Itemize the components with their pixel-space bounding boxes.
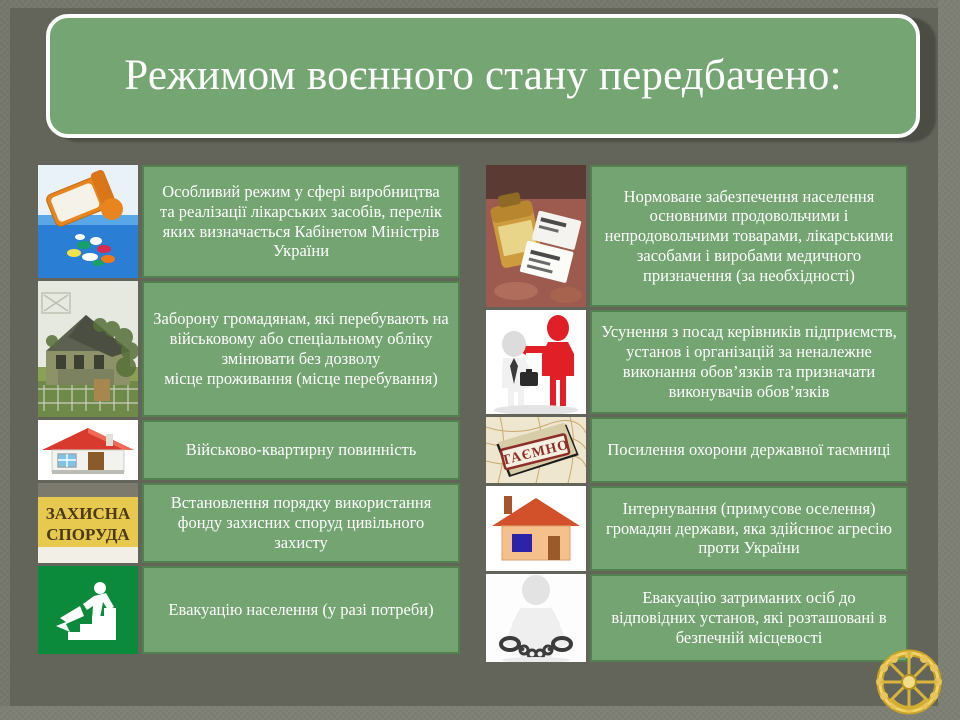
list-item: Евакуацію затриманих осіб до відповідних…: [486, 574, 908, 662]
emergency-exit-stairs-sign: [38, 566, 138, 654]
frame-right-band: [938, 0, 960, 720]
handcuffed-figure: [486, 574, 586, 662]
handcuffed-person-icon: [486, 574, 586, 662]
list-item-text: Евакуацію затриманих осіб до відповідних…: [590, 574, 908, 662]
slide-title-box: Режимом воєнного стану передбачено:: [46, 14, 920, 138]
old-house-photo: [38, 281, 138, 417]
frame-bottom-band: [0, 706, 960, 720]
emergency-exit-icon: [38, 566, 138, 654]
boss-pointing-figures: [486, 310, 586, 414]
list-item: Нормоване забезпечення населення основни…: [486, 165, 908, 307]
list-item: Евакуацію населення (у разі потреби): [38, 566, 460, 654]
house-orange-icon: [486, 486, 586, 571]
list-item-text: Евакуацію населення (у разі потреби): [142, 566, 460, 654]
secret-stamp-map: ТАЄМНО: [486, 417, 586, 483]
sign-line-1: ЗАХИСНА: [46, 504, 131, 523]
list-item-text: Встановлення порядку використання фонду …: [142, 483, 460, 563]
list-item-text: Військово-квартирну повинність: [142, 420, 460, 480]
left-column: Особливий режим у сфері виробництва та р…: [38, 165, 460, 657]
pointing-boss-icon: [486, 310, 586, 414]
red-roof-house-icon: [38, 420, 138, 480]
list-item-text: Нормоване забезпечення населення основни…: [590, 165, 908, 307]
pill-bottle-photo: [38, 165, 138, 278]
house-icon: [38, 420, 138, 480]
list-item: Особливий режим у сфері виробництва та р…: [38, 165, 460, 278]
right-column: Нормоване забезпечення населення основни…: [486, 165, 908, 665]
frame-left-band: [0, 0, 10, 720]
page-title: Режимом воєнного стану передбачено:: [106, 53, 859, 99]
frame-top-band: [0, 0, 960, 8]
list-item-text: Усунення з посад керівників підприємств,…: [590, 310, 908, 414]
list-item-text: Інтернування (примусове оселення) громад…: [590, 486, 908, 571]
list-item: Військово-квартирну повинність: [38, 420, 460, 480]
gold-star-emblem: [866, 644, 952, 716]
protective-structure-sign: ЗАХИСНА СПОРУДА: [38, 483, 138, 563]
list-item: ТАЄМНО Посилення охорони державної таємн…: [486, 417, 908, 483]
sign-line-2: СПОРУДА: [46, 525, 130, 544]
list-item: Усунення з посад керівників підприємств,…: [486, 310, 908, 414]
orange-house-icon: [486, 486, 586, 571]
secret-stamp-icon: ТАЄМНО: [486, 417, 586, 483]
list-item: ЗАХИСНА СПОРУДА Встановлення порядку вик…: [38, 483, 460, 563]
old-house-icon: [38, 281, 138, 417]
slide: Режимом воєнного стану передбачено:: [0, 0, 960, 720]
list-item-text: Заборону громадянам, які перебувають на …: [142, 281, 460, 417]
list-item-text: Посилення охорони державної таємниці: [590, 417, 908, 483]
protective-structure-sign-icon: ЗАХИСНА СПОРУДА: [38, 483, 138, 563]
list-item-text: Особливий режим у сфері виробництва та р…: [142, 165, 460, 278]
pill-bottle-icon: [38, 165, 138, 278]
list-item: Інтернування (примусове оселення) громад…: [486, 486, 908, 571]
list-item: Заборону громадянам, які перебувають на …: [38, 281, 460, 417]
medicine-packets-photo: [486, 165, 586, 307]
medicine-packets-icon: [486, 165, 586, 307]
